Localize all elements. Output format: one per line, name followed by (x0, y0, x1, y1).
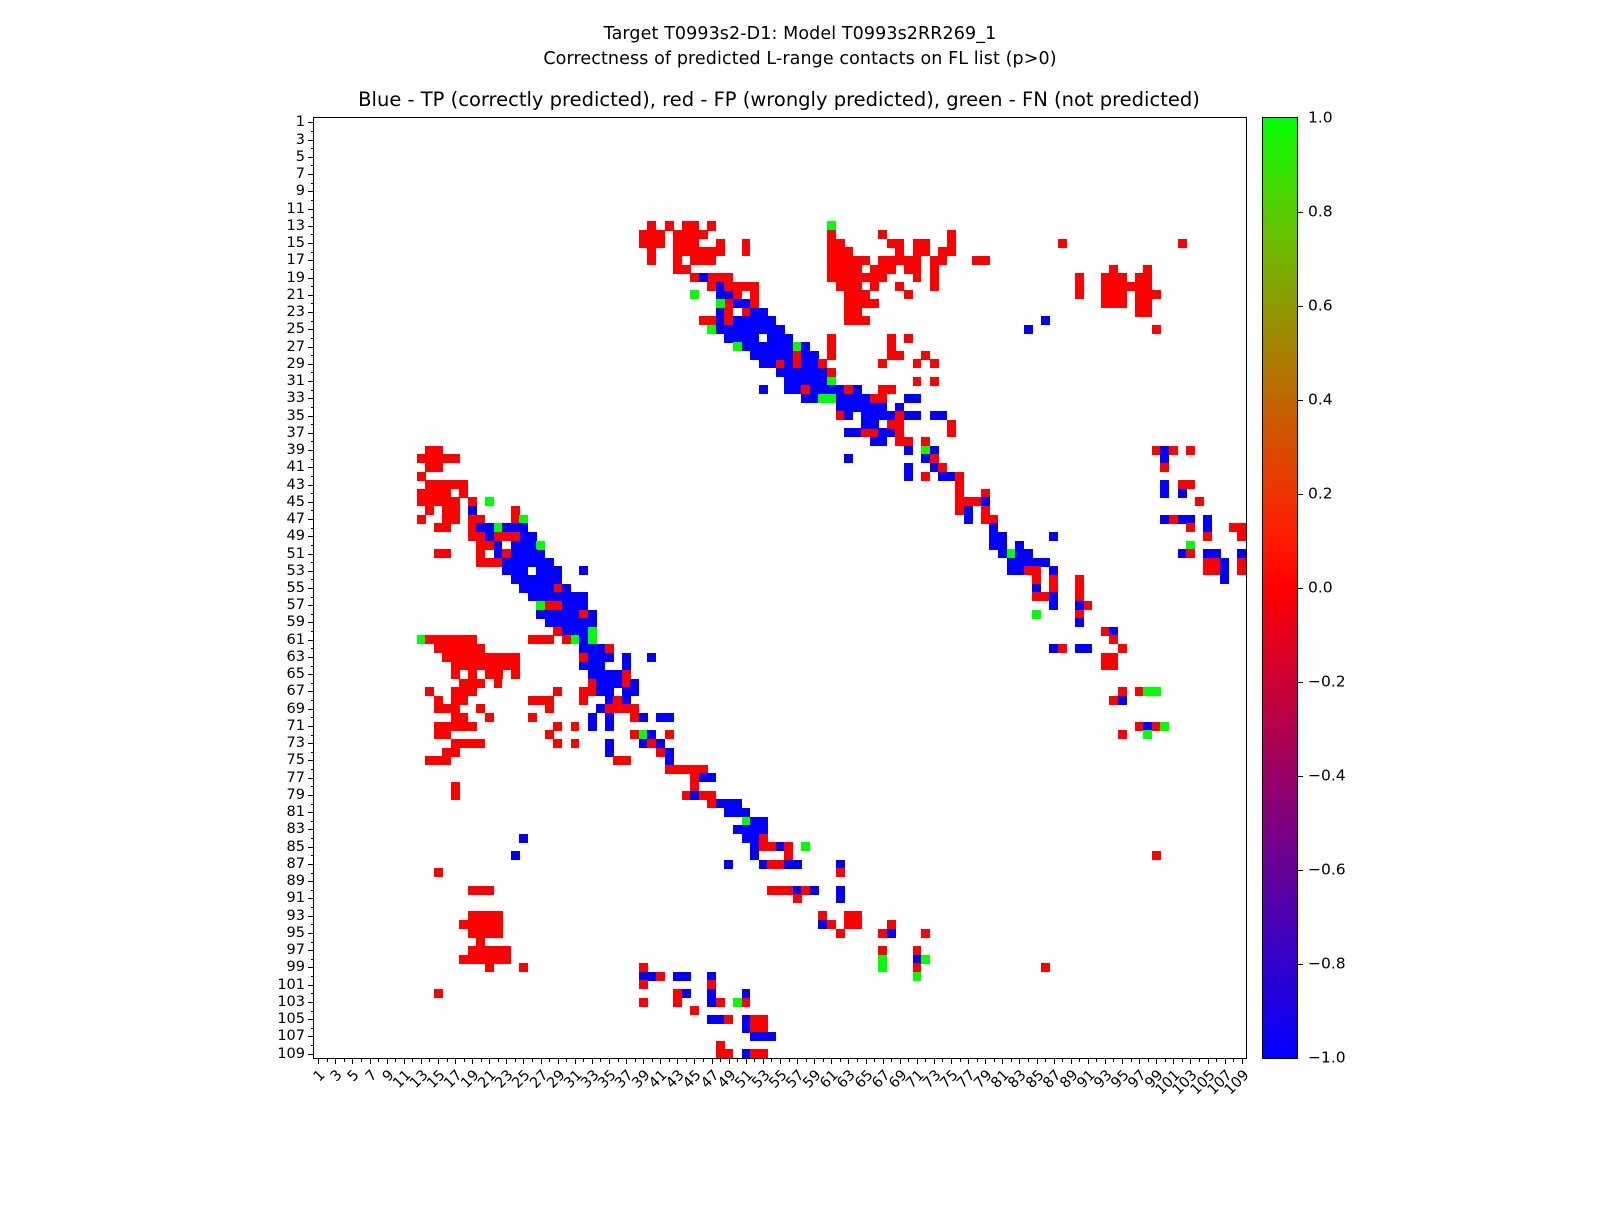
y-tick (308, 398, 314, 399)
y-tick (308, 174, 314, 175)
y-tick (308, 709, 314, 710)
y-tick (311, 907, 315, 908)
contact-cell-fp-mirror (690, 1006, 699, 1015)
colorbar-tick-label: −1.0 (1308, 1050, 1346, 1066)
x-tick (532, 1058, 533, 1062)
y-tick (311, 924, 315, 925)
contact-cell-fp-mirror (468, 886, 494, 895)
x-tick (1131, 1058, 1132, 1062)
y-tick-label: 85 (287, 839, 305, 854)
y-tick (311, 838, 315, 839)
y-tick (311, 200, 315, 201)
contact-cell-tp (904, 411, 922, 420)
y-tick-label: 43 (287, 477, 305, 492)
x-tick (558, 1058, 559, 1064)
y-tick (308, 209, 314, 210)
contact-cell-tp-mirror (870, 437, 888, 446)
x-tick (1165, 1058, 1166, 1062)
y-tick-label: 73 (287, 736, 305, 751)
contact-cell-fp-mirror (647, 247, 656, 265)
y-tick-label: 63 (287, 650, 305, 665)
y-tick-label: 55 (287, 581, 305, 596)
y-tick (311, 424, 315, 425)
contact-cell-tp-mirror (519, 834, 528, 843)
x-tick (1216, 1058, 1217, 1062)
y-tick (311, 390, 315, 391)
contact-cell-fn-mirror (1032, 610, 1041, 619)
y-tick-label: 7 (296, 167, 305, 182)
contact-cell-fp (571, 722, 580, 731)
y-tick (311, 1045, 315, 1046)
contact-cell-fn (536, 541, 545, 550)
x-tick (1045, 1058, 1046, 1062)
y-tick (311, 786, 315, 787)
contact-cell-fn (801, 842, 810, 851)
x-tick (686, 1058, 687, 1062)
contact-cell-fp (921, 472, 930, 481)
y-tick-label: 69 (287, 701, 305, 716)
y-tick-label: 75 (287, 753, 305, 768)
contact-cell-fp-mirror (904, 290, 913, 299)
y-tick (308, 278, 314, 279)
y-tick (308, 485, 314, 486)
contact-cell-fp (1237, 532, 1246, 541)
y-tick-label: 27 (287, 339, 305, 354)
colorbar-tick (1297, 776, 1303, 777)
contact-cell-fp-mirror (613, 756, 631, 765)
contact-cell-fp-mirror (1118, 644, 1127, 653)
y-tick (308, 260, 314, 261)
y-tick (308, 847, 314, 848)
x-tick (421, 1058, 422, 1064)
x-tick (395, 1058, 396, 1062)
x-tick (498, 1058, 499, 1062)
colorbar-tick-label: −0.2 (1308, 674, 1346, 690)
x-tick (481, 1058, 482, 1062)
contact-cell-fp-mirror (434, 868, 443, 877)
x-tick (472, 1058, 473, 1064)
y-tick-label: 47 (287, 512, 305, 527)
x-tick (1242, 1058, 1243, 1064)
contact-cell-tp-mirror (1049, 592, 1058, 610)
contact-cell-fp-mirror (468, 911, 503, 929)
y-tick (308, 433, 314, 434)
y-tick (311, 959, 315, 960)
y-tick-label: 59 (287, 615, 305, 630)
x-tick (746, 1058, 747, 1064)
x-tick (523, 1058, 524, 1064)
y-tick (308, 536, 314, 537)
y-tick (311, 493, 315, 494)
y-tick-label: 5 (296, 150, 305, 165)
contact-cell-fp-mirror (930, 265, 939, 291)
x-tick (806, 1058, 807, 1062)
x-tick (609, 1058, 610, 1064)
x-tick (866, 1058, 867, 1064)
x-tick (455, 1058, 456, 1064)
contact-cell-tp-mirror (605, 739, 614, 757)
y-tick (311, 459, 315, 460)
contact-cell-tp (930, 411, 948, 420)
colorbar-tick (1297, 212, 1303, 213)
contact-cell-fp-mirror (434, 722, 452, 740)
y-tick (311, 631, 315, 632)
contact-cell-fp-mirror (1075, 575, 1084, 601)
y-tick-label: 77 (287, 770, 305, 785)
x-tick (840, 1058, 841, 1062)
contact-cell-fp (425, 756, 451, 765)
contact-cell-tp-mirror (553, 566, 562, 584)
y-tick (311, 821, 315, 822)
contact-cell-fp-mirror (528, 713, 537, 722)
y-tick (308, 416, 314, 417)
colorbar-tick (1297, 400, 1303, 401)
contact-cell-fp (844, 911, 862, 929)
contact-cell-fp-mirror (707, 256, 716, 265)
x-tick (575, 1058, 576, 1064)
y-tick (311, 131, 315, 132)
x-tick (1002, 1058, 1003, 1064)
y-tick (308, 967, 314, 968)
contact-cell-fp (425, 687, 434, 696)
contact-cell-fp (459, 722, 477, 731)
x-tick (848, 1058, 849, 1064)
y-tick-label: 45 (287, 495, 305, 510)
contact-cell-fp (468, 929, 503, 938)
contact-cell-fp-mirror (1152, 851, 1161, 860)
y-tick-label: 13 (287, 219, 305, 234)
y-tick-label: 21 (287, 288, 305, 303)
y-tick-label: 101 (277, 977, 305, 992)
y-tick (308, 1019, 314, 1020)
y-tick-label: 71 (287, 719, 305, 734)
y-tick-label: 35 (287, 408, 305, 423)
y-tick-label: 49 (287, 529, 305, 544)
contact-cell-fp (1186, 446, 1195, 455)
colorbar-tick-label: −0.4 (1308, 768, 1346, 784)
x-tick (985, 1058, 986, 1064)
colorbar-tick-label: −0.6 (1308, 862, 1346, 878)
x-tick (592, 1058, 593, 1064)
contact-cell-tp (810, 886, 819, 895)
y-tick (311, 873, 315, 874)
contact-cell-fp-mirror (1058, 644, 1067, 653)
contact-cell-fp-mirror (442, 549, 451, 558)
x-tick (977, 1058, 978, 1062)
x-tick (857, 1058, 858, 1062)
x-tick (1071, 1058, 1072, 1064)
contact-cell-fp-mirror (545, 635, 554, 644)
contact-cell-fp-mirror (742, 998, 751, 1007)
x-tick (335, 1058, 336, 1064)
y-tick (308, 640, 314, 641)
contact-cell-fn (921, 955, 930, 964)
contact-cell-fp-mirror (639, 230, 657, 248)
contact-cell-fp-mirror (742, 239, 751, 248)
contact-cell-fp (742, 247, 751, 256)
x-tick (677, 1058, 678, 1064)
x-tick (1190, 1058, 1191, 1064)
colorbar-tick-label: 0.8 (1308, 204, 1333, 220)
contact-cell-fp (494, 679, 503, 688)
x-tick (771, 1058, 772, 1062)
y-tick (308, 605, 314, 606)
contact-cell-fp-mirror (930, 454, 939, 463)
y-tick-label: 11 (287, 201, 305, 216)
y-tick (311, 648, 315, 649)
y-tick (311, 717, 315, 718)
contact-cell-tp (1178, 489, 1187, 498)
contact-cell-fp (425, 446, 443, 464)
contact-cell-tp (579, 592, 588, 601)
contact-cell-fp (451, 497, 460, 515)
contact-cell-fp-mirror (665, 730, 674, 739)
y-tick-label: 83 (287, 822, 305, 837)
y-tick (311, 890, 315, 891)
y-tick (311, 269, 315, 270)
y-tick (311, 700, 315, 701)
y-tick (311, 855, 315, 856)
contact-cell-tp-mirror (938, 472, 956, 481)
contact-cell-fp-mirror (417, 515, 426, 524)
x-tick (618, 1058, 619, 1062)
contact-cell-fp (1169, 446, 1178, 455)
contact-cell-fp-mirror (1032, 566, 1041, 584)
x-tick (729, 1058, 730, 1064)
contact-cell-fp (955, 480, 964, 489)
colorbar-tick-label: 0.6 (1308, 298, 1333, 314)
contact-cell-fp-mirror (1101, 653, 1119, 671)
contact-cell-tp (887, 929, 896, 938)
contact-map-cells (314, 118, 1246, 1058)
contact-cell-fp-mirror (639, 980, 648, 989)
contact-cell-tp (596, 687, 614, 696)
y-tick (311, 683, 315, 684)
contact-cell-fp-mirror (690, 256, 708, 265)
contact-cell-fp (1152, 325, 1161, 334)
y-tick-label: 19 (287, 270, 305, 285)
contact-cell-tp (665, 748, 674, 766)
contact-cell-fp-mirror (639, 998, 648, 1007)
contact-cell-fp-mirror (545, 696, 554, 714)
contact-cell-tp-mirror (1041, 316, 1050, 325)
contact-cell-fp (759, 842, 777, 851)
x-tick (917, 1058, 918, 1064)
y-tick-label: 31 (287, 374, 305, 389)
contact-cell-tp-mirror (707, 1015, 725, 1024)
x-tick (626, 1058, 627, 1064)
y-tick (311, 528, 315, 529)
contact-cell-fp (1186, 549, 1195, 558)
x-tick (968, 1058, 969, 1064)
y-tick-label: 29 (287, 357, 305, 372)
x-tick (900, 1058, 901, 1064)
x-tick (1233, 1058, 1234, 1062)
contact-cell-fp (571, 739, 580, 748)
x-tick (541, 1058, 542, 1064)
x-tick (583, 1058, 584, 1062)
y-tick (308, 329, 314, 330)
contact-cell-fp (1160, 463, 1169, 472)
x-tick (1199, 1058, 1200, 1062)
contact-cell-fn (878, 963, 887, 972)
y-tick-label: 23 (287, 305, 305, 320)
contact-cell-fp (434, 549, 443, 558)
y-tick (308, 191, 314, 192)
y-tick (308, 950, 314, 951)
contact-cell-fp (904, 334, 913, 343)
y-tick-label: 33 (287, 391, 305, 406)
y-tick (308, 312, 314, 313)
y-tick (311, 804, 315, 805)
y-tick (308, 571, 314, 572)
x-tick (1113, 1058, 1114, 1062)
x-tick (994, 1058, 995, 1062)
y-tick (308, 502, 314, 503)
contact-cell-fp (451, 782, 460, 800)
contact-cell-tp (1220, 558, 1229, 584)
y-tick (308, 519, 314, 520)
contact-cell-fp-mirror (528, 696, 546, 705)
y-tick-label: 93 (287, 908, 305, 923)
x-tick (1088, 1058, 1089, 1064)
contact-cell-fp-mirror (827, 342, 836, 351)
y-tick (311, 321, 315, 322)
x-tick (370, 1058, 371, 1064)
contact-cell-fp (647, 739, 656, 748)
x-tick (960, 1058, 961, 1062)
x-tick (874, 1058, 875, 1062)
contact-cell-tp (588, 713, 597, 731)
contact-cell-tp (784, 860, 802, 869)
x-tick (506, 1058, 507, 1064)
contact-cell-fp (887, 351, 905, 360)
contact-cell-fp-mirror (913, 265, 922, 283)
contact-cell-tp (1160, 480, 1169, 498)
y-tick (311, 338, 315, 339)
x-tick (908, 1058, 909, 1062)
x-tick (1139, 1058, 1140, 1064)
contact-cell-fp-mirror (913, 359, 922, 368)
contact-cell-fp-mirror (511, 661, 520, 679)
contact-cell-fp-mirror (972, 256, 990, 265)
contact-cell-fp (1058, 239, 1067, 248)
y-tick (308, 829, 314, 830)
contact-cell-fp-mirror (878, 359, 887, 368)
suptitle-line-2: Correctness of predicted L-range contact… (0, 47, 1600, 72)
x-tick (600, 1058, 601, 1062)
contact-cell-fp-mirror (656, 239, 665, 248)
contact-cell-tp-mirror (682, 989, 691, 998)
contact-cell-tp (1203, 515, 1212, 533)
x-tick (635, 1058, 636, 1062)
x-tick (754, 1058, 755, 1062)
contact-cell-tp (836, 886, 845, 904)
contact-cell-fn-mirror (1143, 730, 1152, 739)
y-tick (308, 347, 314, 348)
contact-cell-fp-mirror (870, 299, 879, 308)
y-tick (311, 562, 315, 563)
contact-cell-fp-mirror (1084, 601, 1093, 610)
x-tick (891, 1058, 892, 1062)
contact-cell-tp-mirror (622, 653, 631, 671)
x-tick (1054, 1058, 1055, 1064)
contact-cell-fn (690, 290, 699, 299)
contact-cell-tp (844, 428, 862, 437)
contact-cell-fp-mirror (870, 282, 879, 291)
y-tick (311, 217, 315, 218)
y-tick (308, 691, 314, 692)
y-tick-label: 15 (287, 236, 305, 251)
colorbar-tick-label: 0.2 (1308, 486, 1333, 502)
x-tick (1105, 1058, 1106, 1064)
colorbar-tick (1297, 306, 1303, 307)
y-tick (311, 597, 315, 598)
y-tick (311, 752, 315, 753)
contact-cell-tp-mirror (1075, 644, 1093, 653)
y-tick-label: 95 (287, 926, 305, 941)
y-tick (311, 1011, 315, 1012)
contact-cell-fp (784, 842, 793, 860)
contact-cell-fp (485, 713, 494, 722)
contact-cell-tp-mirror (579, 566, 588, 575)
contact-cell-fp (827, 351, 836, 360)
contact-cell-fp (459, 679, 477, 697)
y-tick (311, 252, 315, 253)
y-tick (308, 933, 314, 934)
contact-cell-tp-mirror (1075, 618, 1084, 627)
contact-cell-fp (553, 687, 562, 696)
contact-cell-tp-mirror (1049, 532, 1058, 541)
x-tick (412, 1058, 413, 1062)
y-tick (311, 666, 315, 667)
contact-cell-fp-mirror (682, 230, 691, 248)
contact-cell-fp (1203, 532, 1212, 541)
contact-cell-fp (887, 334, 896, 352)
y-tick (308, 554, 314, 555)
y-tick-label: 57 (287, 598, 305, 613)
contact-cell-fp (553, 722, 562, 731)
contact-cell-fp-mirror (930, 359, 939, 368)
contact-cell-fp (442, 454, 460, 463)
contact-cell-fp (553, 739, 562, 748)
y-tick-label: 65 (287, 667, 305, 682)
contact-cell-fn-mirror (1152, 687, 1161, 696)
y-tick (311, 1028, 315, 1029)
contact-map-plot-area[interactable]: 1357911131517192123252729313335373941434… (313, 117, 1247, 1059)
contact-cell-fp (981, 506, 990, 515)
x-tick (361, 1058, 362, 1062)
y-tick (308, 864, 314, 865)
contact-cell-tp-mirror (605, 713, 614, 731)
x-tick (763, 1058, 764, 1064)
y-tick (308, 122, 314, 123)
contact-cell-tp-mirror (784, 385, 793, 394)
y-tick-label: 39 (287, 443, 305, 458)
y-tick-label: 1 (296, 115, 305, 130)
y-tick (311, 407, 315, 408)
y-tick (308, 881, 314, 882)
x-tick (951, 1058, 952, 1064)
y-tick (308, 898, 314, 899)
y-tick-label: 61 (287, 632, 305, 647)
contact-cell-fp-mirror (656, 972, 665, 981)
y-tick-label: 89 (287, 874, 305, 889)
contact-cell-fp-mirror (1032, 592, 1050, 601)
contact-cell-fp (485, 963, 494, 972)
y-tick-label: 51 (287, 546, 305, 561)
x-tick (1156, 1058, 1157, 1064)
